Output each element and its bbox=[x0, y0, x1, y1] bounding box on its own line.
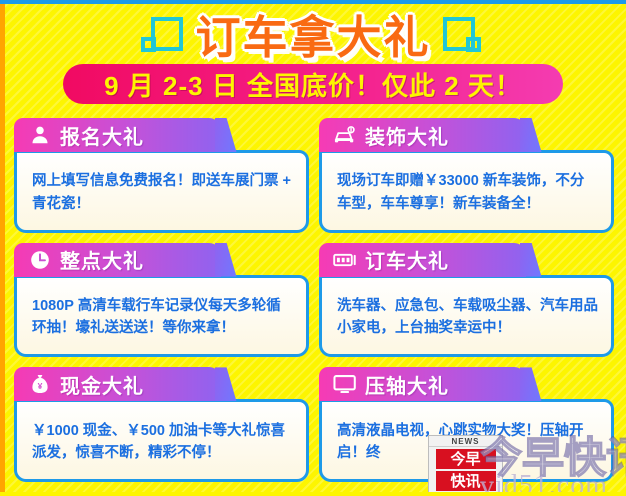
card-text: 1080P 高清车载行车记录仪每天多轮循环抽！壕礼送送送！等你来拿！ bbox=[32, 295, 293, 340]
bracket-left-icon bbox=[141, 15, 185, 59]
card-header: ¥ 现金大礼 bbox=[14, 367, 221, 401]
gift-card-booking[interactable]: 订车大礼 洗车器、应急包、车载吸尘器、汽车用品小家电，上台抽奖幸运中！ bbox=[319, 243, 614, 364]
title-row: 订车拿大礼 bbox=[0, 8, 626, 66]
promo-banner: 订车拿大礼 9 月 2-3 日 全国底价！仅此 2 天！ 报名大礼 网上填写信息… bbox=[0, 0, 626, 496]
gift-card-cash[interactable]: ¥ 现金大礼 ￥1000 现金、￥500 加油卡等大礼惊喜派发，惊喜不断，精彩不… bbox=[14, 367, 309, 488]
card-header: 整点大礼 bbox=[14, 243, 221, 277]
gift-card-hourly[interactable]: 整点大礼 1080P 高清车载行车记录仪每天多轮循环抽！壕礼送送送！等你来拿！ bbox=[14, 243, 309, 364]
car-polish-icon bbox=[333, 124, 357, 146]
top-edge-bar bbox=[0, 0, 626, 4]
card-text: 现场订车即赠￥33000 新车装饰，不分车型，车车尊享！新车装备全！ bbox=[337, 170, 598, 215]
subtitle-pill: 9 月 2-3 日 全国底价！仅此 2 天！ bbox=[63, 64, 563, 104]
card-body: ￥1000 现金、￥500 加油卡等大礼惊喜派发，惊喜不断，精彩不停！ bbox=[14, 399, 309, 482]
card-body: 现场订车即赠￥33000 新车装饰，不分车型，车车尊享！新车装备全！ bbox=[319, 150, 614, 233]
banner-header: 订车拿大礼 9 月 2-3 日 全国底价！仅此 2 天！ bbox=[0, 0, 626, 112]
clock-icon bbox=[28, 249, 52, 271]
money-bag-icon: ¥ bbox=[28, 373, 52, 395]
page-title: 订车拿大礼 bbox=[195, 15, 430, 60]
card-text: ￥1000 现金、￥500 加油卡等大礼惊喜派发，惊喜不断，精彩不停！ bbox=[32, 420, 293, 465]
card-header: 装饰大礼 bbox=[319, 118, 526, 152]
card-title: 现金大礼 bbox=[60, 370, 144, 399]
card-title: 压轴大礼 bbox=[365, 370, 449, 399]
card-title: 报名大礼 bbox=[60, 121, 144, 150]
tv-icon bbox=[333, 373, 357, 395]
svg-text:¥: ¥ bbox=[38, 381, 43, 391]
bracket-right-icon bbox=[441, 15, 485, 59]
subtitle-text: 9 月 2-3 日 全国底价！仅此 2 天！ bbox=[104, 66, 522, 103]
card-header: 订车大礼 bbox=[319, 243, 526, 277]
card-title: 整点大礼 bbox=[60, 245, 144, 274]
card-title: 订车大礼 bbox=[365, 245, 449, 274]
card-title: 装饰大礼 bbox=[365, 121, 449, 150]
gift-card-decoration[interactable]: 装饰大礼 现场订车即赠￥33000 新车装饰，不分车型，车车尊享！新车装备全！ bbox=[319, 118, 614, 239]
card-body: 网上填写信息免费报名！即送车展门票 + 青花瓷！ bbox=[14, 150, 309, 233]
gift-card-signup[interactable]: 报名大礼 网上填写信息免费报名！即送车展门票 + 青花瓷！ bbox=[14, 118, 309, 239]
left-edge-bar bbox=[0, 0, 5, 496]
card-header: 报名大礼 bbox=[14, 118, 221, 152]
bottom-edge-bar bbox=[0, 492, 626, 496]
card-text: 洗车器、应急包、车载吸尘器、汽车用品小家电，上台抽奖幸运中！ bbox=[337, 295, 598, 340]
card-body: 1080P 高清车载行车记录仪每天多轮循环抽！壕礼送送送！等你来拿！ bbox=[14, 275, 309, 358]
card-text: 网上填写信息免费报名！即送车展门票 + 青花瓷！ bbox=[32, 170, 293, 215]
card-header: 压轴大礼 bbox=[319, 367, 526, 401]
user-icon bbox=[28, 124, 52, 146]
banknote-icon bbox=[333, 249, 357, 271]
card-body: 洗车器、应急包、车载吸尘器、汽车用品小家电，上台抽奖幸运中！ bbox=[319, 275, 614, 358]
